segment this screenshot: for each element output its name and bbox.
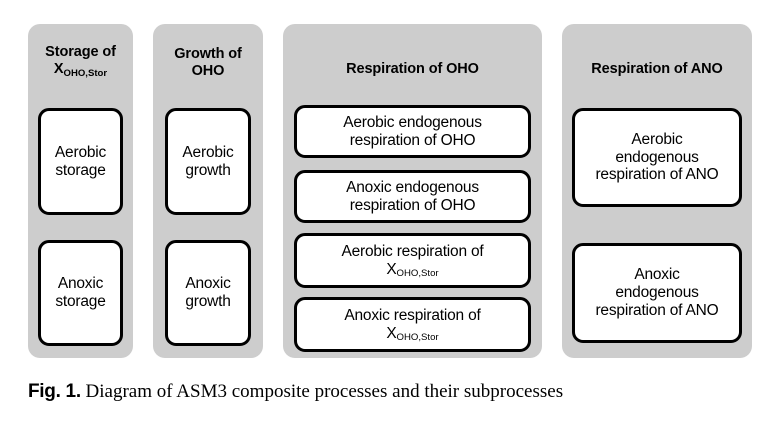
subscript-oho-stor: OHO,Stor — [64, 68, 108, 79]
panel-respiration-of-ano: Respiration of ANO Aerobic endogenous re… — [562, 24, 752, 358]
subprocess-aerobic-growth-text: Aerobic growth — [172, 144, 244, 180]
subprocess-aerobic-storage[interactable]: Aerobic storage — [38, 108, 123, 215]
panel-title-storage-line1: Storage of — [45, 44, 116, 60]
subprocess-aerobic-endogenous-respiration-ano[interactable]: Aerobic endogenous respiration of ANO — [572, 108, 742, 207]
subprocess-aerobic-respiration-of-xohostor[interactable]: Aerobic respiration of XOHO,Stor — [294, 233, 531, 288]
subprocess-anoxic-endogenous-respiration-ano[interactable]: Anoxic endogenous respiration of ANO — [572, 243, 742, 343]
panel-title-growth: Growth of OHO — [153, 46, 263, 80]
panel-title-growth-line2: OHO — [192, 63, 225, 79]
panel-title-respiration-ano: Respiration of ANO — [562, 61, 752, 78]
subprocess-anoxic-respiration-of-xohostor-text: Anoxic respiration of XOHO,Stor — [301, 307, 524, 343]
figure-number-label: Fig. 1. — [28, 381, 81, 402]
panel-title-storage: Storage of XOHO,Stor — [28, 44, 133, 78]
subprocess-anoxic-storage-text: Anoxic storage — [45, 275, 116, 311]
subprocess-anoxic-endogenous-respiration-ano-text: Anoxic endogenous respiration of ANO — [579, 266, 735, 320]
figure-caption: Fig. 1. Diagram of ASM3 composite proces… — [28, 381, 758, 404]
subscript-oho-stor: OHO,Stor — [397, 332, 439, 343]
subscript-oho-stor: OHO,Stor — [397, 268, 439, 279]
subprocess-anoxic-growth-text: Anoxic growth — [172, 275, 244, 311]
subprocess-anoxic-endogenous-respiration-oho-text: Anoxic endogenous respiration of OHO — [301, 179, 524, 215]
panel-title-storage-line2: XOHO,Stor — [54, 61, 107, 77]
subprocess-aerobic-respiration-of-xohostor-text: Aerobic respiration of XOHO,Stor — [301, 243, 524, 279]
subprocess-aerobic-endogenous-respiration-oho-text: Aerobic endogenous respiration of OHO — [301, 114, 524, 150]
subprocess-aerobic-endogenous-respiration-oho[interactable]: Aerobic endogenous respiration of OHO — [294, 105, 531, 158]
subprocess-anoxic-growth[interactable]: Anoxic growth — [165, 240, 251, 346]
subprocess-anoxic-respiration-of-xohostor[interactable]: Anoxic respiration of XOHO,Stor — [294, 297, 531, 352]
subprocess-anoxic-endogenous-respiration-oho[interactable]: Anoxic endogenous respiration of OHO — [294, 170, 531, 223]
panel-storage-of-xohostor: Storage of XOHO,Stor Aerobic storage Ano… — [28, 24, 133, 358]
subprocess-anoxic-storage[interactable]: Anoxic storage — [38, 240, 123, 346]
subprocess-aerobic-storage-text: Aerobic storage — [45, 144, 116, 180]
subprocess-aerobic-endogenous-respiration-ano-text: Aerobic endogenous respiration of ANO — [579, 131, 735, 185]
panel-title-respiration-oho: Respiration of OHO — [283, 61, 542, 78]
panel-respiration-of-oho: Respiration of OHO Aerobic endogenous re… — [283, 24, 542, 358]
figure-asm3-diagram: Storage of XOHO,Stor Aerobic storage Ano… — [0, 0, 768, 425]
subprocess-aerobic-growth[interactable]: Aerobic growth — [165, 108, 251, 215]
panel-growth-of-oho: Growth of OHO Aerobic growth Anoxic grow… — [153, 24, 263, 358]
figure-caption-text: Diagram of ASM3 composite processes and … — [81, 381, 563, 402]
panel-title-growth-line1: Growth of — [174, 46, 242, 62]
